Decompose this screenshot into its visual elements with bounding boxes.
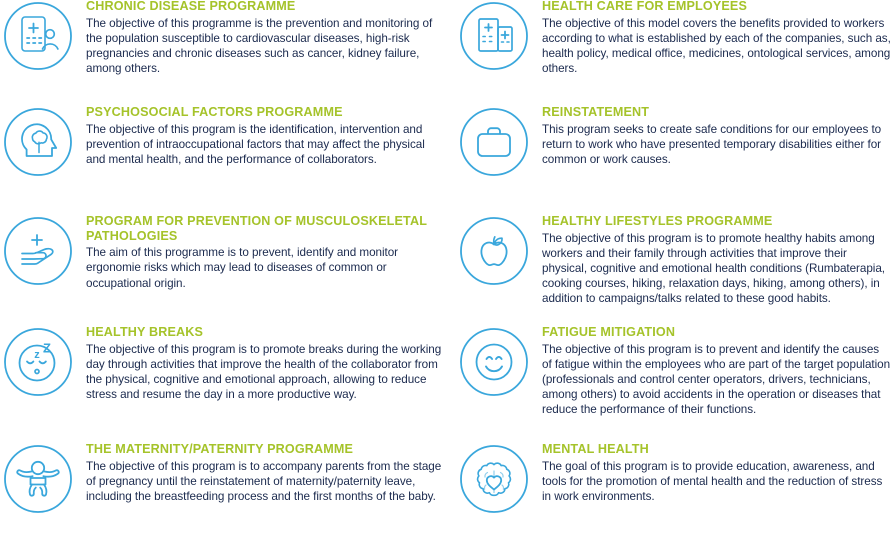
sleeping-face-icon: z Z [0, 324, 76, 400]
card-title: FATIGUE MITIGATION [542, 325, 891, 340]
card-body: The objective of this program is to prev… [542, 342, 891, 418]
programme-card[interactable]: PSYCHOSOCIAL FACTORS PROGRAMME The objec… [0, 104, 445, 180]
card-text: THE MATERNITY/PATERNITY PROGRAMME The ob… [76, 441, 445, 504]
left-column: CHRONIC DISEASE PROGRAMME The objective … [0, 0, 445, 533]
programmes-board: CHRONIC DISEASE PROGRAMME The objective … [0, 0, 891, 533]
card-title: PROGRAM FOR PREVENTION OF MUSCULOSKELETA… [86, 214, 445, 243]
card-body: The goal of this program is to provide e… [542, 459, 891, 505]
hospital-building-icon [456, 0, 532, 74]
card-title: HEALTH CARE FOR EMPLOYEES [542, 0, 891, 14]
card-body: The aim of this programme is to prevent,… [86, 245, 445, 291]
card-title: PSYCHOSOCIAL FACTORS PROGRAMME [86, 105, 445, 120]
hand-plus-care-icon [0, 213, 76, 289]
programme-card[interactable]: FATIGUE MITIGATION The objective of this… [456, 324, 891, 418]
apple-icon [456, 213, 532, 289]
card-title: MENTAL HEALTH [542, 442, 891, 457]
smiling-face-icon [456, 324, 532, 400]
programme-card[interactable]: THE MATERNITY/PATERNITY PROGRAMME The ob… [0, 441, 445, 517]
card-text: PROGRAM FOR PREVENTION OF MUSCULOSKELETA… [76, 213, 445, 291]
card-body: This program seeks to create safe condit… [542, 122, 891, 168]
card-body: The objective of this model covers the b… [542, 16, 891, 77]
programme-card[interactable]: HEALTHY LIFESTYLES PROGRAMME The objecti… [456, 213, 891, 307]
brain-heart-icon [456, 441, 532, 517]
medical-chart-patient-icon [0, 0, 76, 74]
briefcase-icon [456, 104, 532, 180]
card-body: The objective of this program is the ide… [86, 122, 445, 168]
head-brain-icon [0, 104, 76, 180]
card-title: THE MATERNITY/PATERNITY PROGRAMME [86, 442, 445, 457]
card-body: The objective of this program is to prom… [86, 342, 445, 403]
card-body: The objective of this program is to prom… [542, 231, 891, 307]
card-text: HEALTH CARE FOR EMPLOYEES The objective … [532, 0, 891, 76]
programme-card[interactable]: PROGRAM FOR PREVENTION OF MUSCULOSKELETA… [0, 213, 445, 291]
card-text: CHRONIC DISEASE PROGRAMME The objective … [76, 0, 445, 76]
card-title: CHRONIC DISEASE PROGRAMME [86, 0, 445, 14]
programme-card[interactable]: CHRONIC DISEASE PROGRAMME The objective … [0, 0, 445, 76]
card-title: HEALTHY LIFESTYLES PROGRAMME [542, 214, 891, 229]
programme-card[interactable]: REINSTATEMENT This program seeks to crea… [456, 104, 891, 180]
svg-text:z: z [34, 349, 40, 361]
card-text: MENTAL HEALTH The goal of this program i… [532, 441, 891, 504]
svg-text:Z: Z [43, 341, 51, 356]
programme-card[interactable]: MENTAL HEALTH The goal of this program i… [456, 441, 891, 517]
card-body: The objective of this program is to acco… [86, 459, 445, 505]
baby-icon [0, 441, 76, 517]
card-text: HEALTHY BREAKS The objective of this pro… [76, 324, 445, 402]
card-text: PSYCHOSOCIAL FACTORS PROGRAMME The objec… [76, 104, 445, 167]
card-text: HEALTHY LIFESTYLES PROGRAMME The objecti… [532, 213, 891, 307]
programme-card[interactable]: HEALTH CARE FOR EMPLOYEES The objective … [456, 0, 891, 76]
card-body: The objective of this programme is the p… [86, 16, 445, 77]
right-column: HEALTH CARE FOR EMPLOYEES The objective … [456, 0, 891, 533]
card-title: HEALTHY BREAKS [86, 325, 445, 340]
card-text: FATIGUE MITIGATION The objective of this… [532, 324, 891, 418]
card-text: REINSTATEMENT This program seeks to crea… [532, 104, 891, 167]
card-title: REINSTATEMENT [542, 105, 891, 120]
programme-card[interactable]: z Z HEALTHY BREAKS The objective of this… [0, 324, 445, 402]
